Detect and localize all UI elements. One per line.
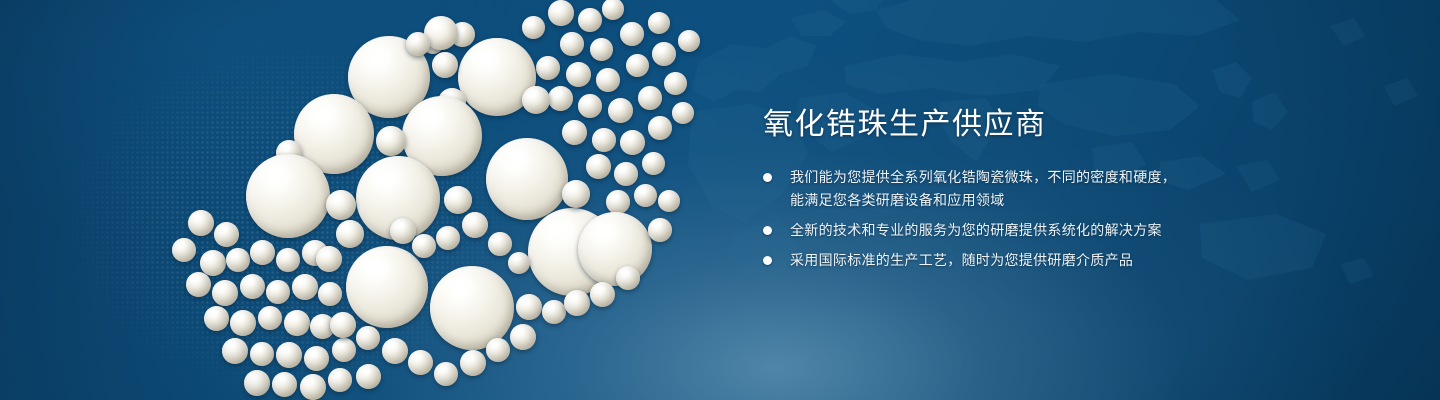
bullet-dot-icon [763, 173, 772, 182]
list-item-line-1: 采用国际标准的生产工艺，随时为您提供研磨介质产品 [790, 252, 1133, 268]
page-title: 氧化锆珠生产供应商 [763, 106, 1263, 144]
bullet-dot-icon [763, 256, 772, 265]
list-item: 我们能为您提供全系列氧化锆陶瓷微珠，不同的密度和硬度， 能满足您各类研磨设备和应… [763, 166, 1263, 212]
banner-copy: 氧化锆珠生产供应商 我们能为您提供全系列氧化锆陶瓷微珠，不同的密度和硬度， 能满… [763, 106, 1263, 272]
list-item: 采用国际标准的生产工艺，随时为您提供研磨介质产品 [763, 249, 1263, 272]
list-item: 全新的技术和专业的服务为您的研磨提供系统化的解决方案 [763, 219, 1263, 242]
list-item-line-1: 我们能为您提供全系列氧化锆陶瓷微珠，不同的密度和硬度， [790, 169, 1176, 185]
list-item-line-2: 能满足您各类研磨设备和应用领域 [790, 189, 1263, 212]
list-item-line-1: 全新的技术和专业的服务为您的研磨提供系统化的解决方案 [790, 222, 1162, 238]
feature-list: 我们能为您提供全系列氧化锆陶瓷微珠，不同的密度和硬度， 能满足您各类研磨设备和应… [763, 166, 1263, 272]
hero-banner: 氧化锆珠生产供应商 我们能为您提供全系列氧化锆陶瓷微珠，不同的密度和硬度， 能满… [0, 0, 1440, 400]
bullet-dot-icon [763, 226, 772, 235]
